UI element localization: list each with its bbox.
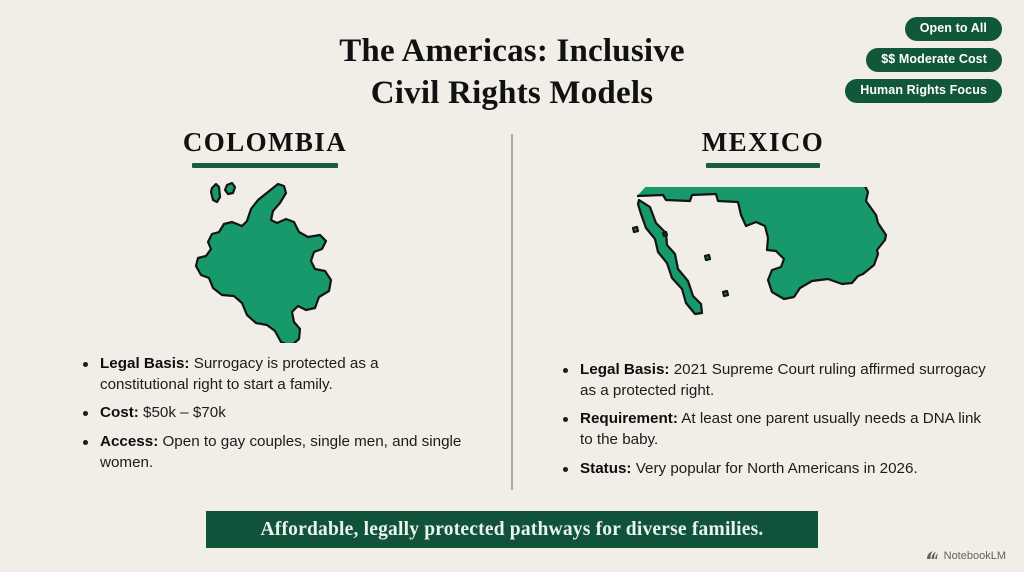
map-container-mexico	[528, 182, 998, 352]
fact-item: Access: Open to gay couples, single men,…	[78, 432, 468, 474]
fact-label: Legal Basis:	[580, 361, 669, 378]
country-heading-mexico: MEXICO	[528, 128, 998, 168]
map-container-colombia	[30, 176, 500, 346]
watermark: NotebookLM	[926, 549, 1006, 562]
fact-item: Legal Basis: Surrogacy is protected as a…	[78, 354, 468, 396]
badge-open-to-all: Open to All	[905, 17, 1002, 41]
badge-moderate-cost: $$ Moderate Cost	[866, 48, 1002, 72]
country-name-mexico: MEXICO	[702, 128, 824, 158]
column-mexico: MEXICO Legal Basis: 2021 Supreme Court r…	[528, 128, 998, 488]
summary-banner-text: Affordable, legally protected pathways f…	[260, 519, 763, 541]
fact-item: Requirement: At least one parent usually…	[558, 409, 988, 451]
country-underline-mexico	[706, 163, 820, 168]
page-title-line-1: The Americas: Inclusive	[339, 33, 685, 69]
notebooklm-icon	[926, 549, 939, 562]
fact-label: Status:	[580, 460, 631, 477]
facts-list-colombia: Legal Basis: Surrogacy is protected as a…	[78, 354, 468, 474]
colombia-map-icon	[190, 178, 340, 343]
fact-item: Status: Very popular for North Americans…	[558, 459, 988, 480]
fact-label: Cost:	[100, 404, 139, 421]
fact-text: $50k – $70k	[139, 404, 226, 421]
fact-text: Very popular for North Americans in 2026…	[631, 460, 917, 477]
country-heading-colombia: COLOMBIA	[30, 128, 500, 168]
fact-item: Legal Basis: 2021 Supreme Court ruling a…	[558, 360, 988, 402]
fact-label: Requirement:	[580, 410, 678, 427]
infographic-slide: Open to All $$ Moderate Cost Human Right…	[0, 0, 1024, 572]
fact-label: Access:	[100, 433, 158, 450]
column-divider	[511, 134, 513, 490]
facts-list-mexico: Legal Basis: 2021 Supreme Court ruling a…	[558, 360, 988, 480]
column-colombia: COLOMBIA Legal Basis: Surrogacy is prote…	[30, 128, 500, 482]
summary-banner: Affordable, legally protected pathways f…	[206, 511, 818, 548]
badge-human-rights-focus: Human Rights Focus	[845, 79, 1002, 103]
fact-item: Cost: $50k – $70k	[78, 403, 468, 424]
mexico-map-icon	[627, 187, 899, 347]
watermark-label: NotebookLM	[944, 550, 1006, 562]
fact-label: Legal Basis:	[100, 355, 189, 372]
country-underline-colombia	[192, 163, 338, 168]
country-name-colombia: COLOMBIA	[183, 128, 347, 158]
badge-group: Open to All $$ Moderate Cost Human Right…	[845, 17, 1002, 103]
